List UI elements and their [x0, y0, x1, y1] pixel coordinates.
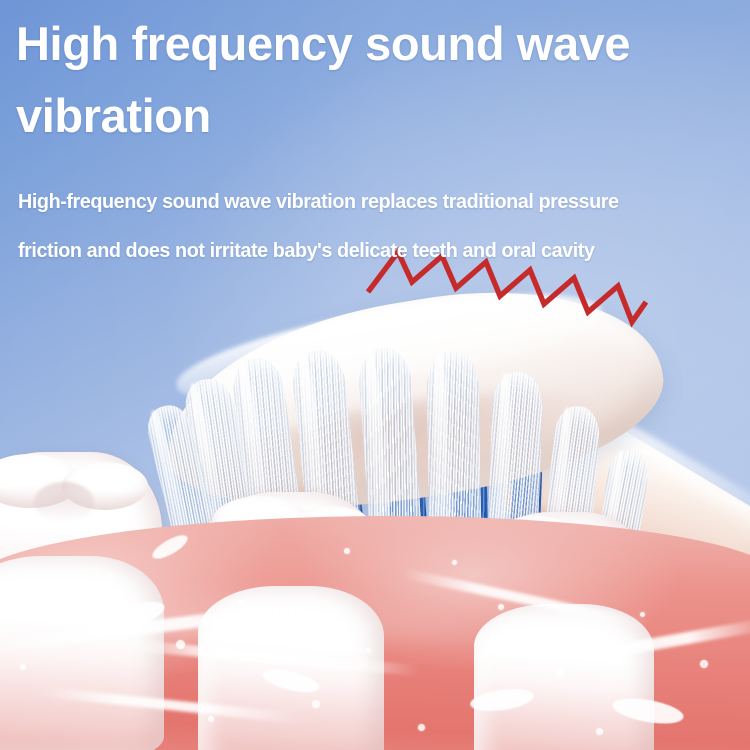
- water-droplet: [312, 700, 320, 708]
- water-droplet: [344, 548, 350, 554]
- water-droplet: [60, 596, 67, 603]
- product-feature-poster: High frequency sound wave vibration High…: [0, 0, 750, 750]
- tooth-lower-front: [0, 556, 164, 750]
- water-droplet: [366, 648, 371, 653]
- water-droplet: [556, 668, 565, 677]
- page-title: High frequency sound wave vibration: [16, 8, 746, 152]
- water-droplet: [238, 600, 244, 606]
- water-droplet: [596, 728, 603, 735]
- page-subtitle: High-frequency sound wave vibration repl…: [18, 177, 709, 275]
- water-droplet: [20, 664, 26, 670]
- water-droplet: [176, 640, 185, 649]
- water-droplet: [640, 612, 645, 617]
- water-droplet: [108, 572, 113, 577]
- water-droplet: [452, 560, 457, 565]
- water-droplet: [208, 716, 214, 722]
- water-droplet: [498, 604, 504, 610]
- water-droplet: [418, 724, 425, 731]
- tooth-groove: [34, 482, 94, 522]
- water-droplet: [700, 660, 708, 668]
